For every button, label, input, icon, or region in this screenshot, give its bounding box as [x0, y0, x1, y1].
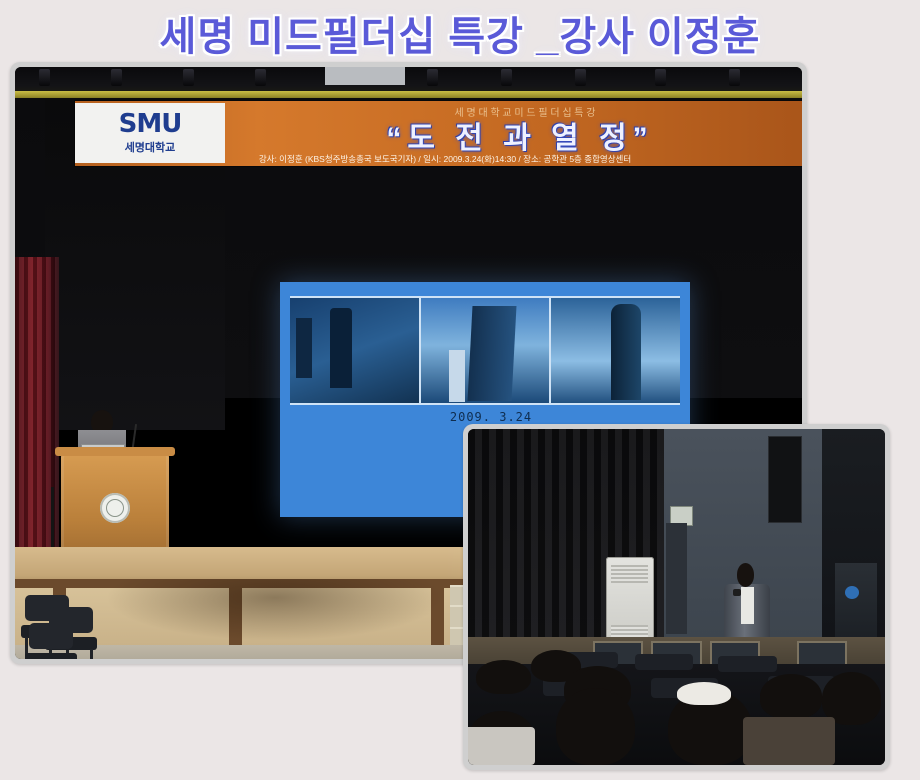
- slide-image-strip: [290, 296, 680, 405]
- inset-photo-image: [468, 429, 885, 765]
- stage-light-icon: [427, 69, 438, 86]
- stage-light-icon: [729, 69, 740, 86]
- audience-area: [468, 664, 885, 765]
- banner-details: 강사: 이정훈 (KBS청주방송총국 보도국기자) / 일시: 2009.3.2…: [85, 153, 802, 165]
- stage-light-icon: [255, 69, 266, 86]
- handheld-microphone-icon: [733, 589, 741, 596]
- folding-chair: [25, 623, 77, 659]
- audience-head: [760, 674, 823, 718]
- stage-light-icon: [655, 69, 666, 86]
- audience-head: [476, 660, 530, 694]
- stage-light-icon: [575, 69, 586, 86]
- event-banner: SMU 세명대학교 세 명 대 학 교 미 드 필 더 십 특 강 “도 전 과…: [75, 101, 802, 166]
- inset-presenter-shirt: [741, 587, 754, 624]
- slide-date-text: 2009. 3.24: [280, 410, 696, 424]
- stage-light-icon: [501, 69, 512, 86]
- stage-shadow: [105, 579, 445, 641]
- inset-photo-frame: [463, 424, 890, 770]
- podium-emblem: [100, 493, 130, 523]
- ceiling-strip: [15, 67, 802, 93]
- ceiling-panel: [325, 67, 405, 85]
- audience-head: [556, 688, 635, 765]
- stage-light-icon: [111, 69, 122, 86]
- stage-light-icon: [39, 69, 50, 86]
- podium-seal: [845, 586, 859, 599]
- slide-photo-crowd: [290, 298, 419, 403]
- smu-wordmark: SMU: [119, 111, 182, 137]
- slide-photo-building: [419, 298, 550, 403]
- inset-podium: [835, 563, 877, 644]
- page-title: 세명 미드필더십 특강 _강사 이정훈: [0, 4, 920, 62]
- stage-light-icon: [183, 69, 194, 86]
- slide-photo-person: [549, 298, 680, 403]
- banner-headline: “도 전 과 열 정”: [235, 113, 802, 157]
- white-cap: [677, 682, 731, 704]
- ceiling-speaker: [768, 436, 801, 523]
- side-door: [666, 523, 687, 634]
